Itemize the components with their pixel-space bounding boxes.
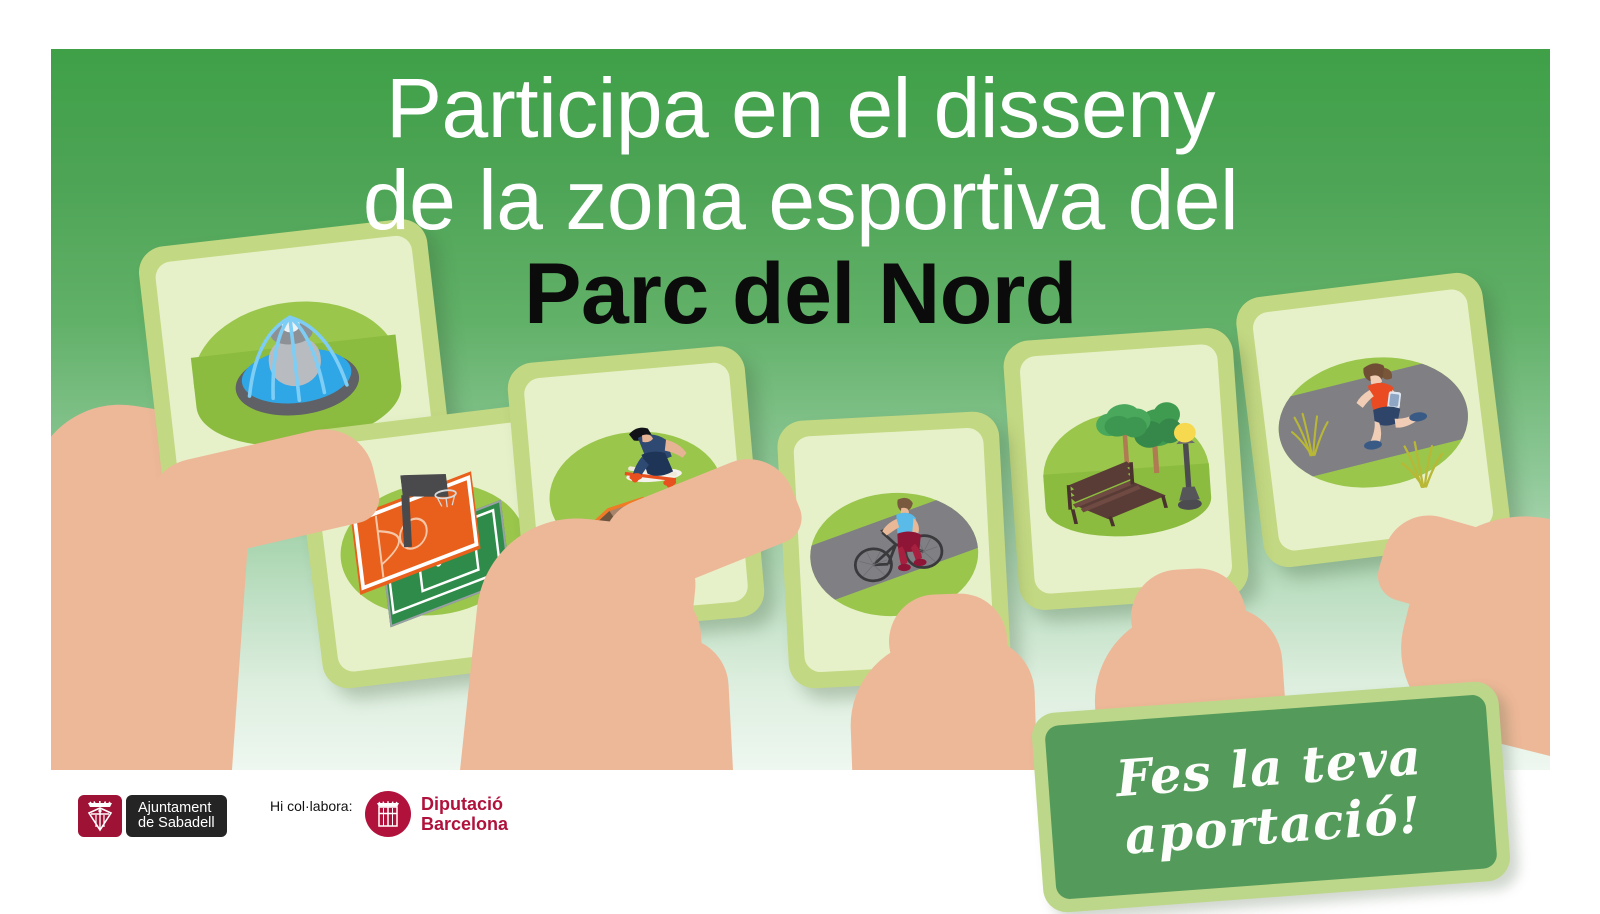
diputacio-logo[interactable]: Diputació Barcelona — [365, 791, 508, 837]
bench-trees-card-inner — [1019, 343, 1233, 594]
sabadell-line-2: de Sabadell — [138, 816, 215, 831]
collaborate-label: Hi col·labora: — [270, 798, 352, 814]
diputacio-coat-of-arms-icon — [365, 791, 411, 837]
sabadell-shield-icon — [86, 800, 114, 832]
hand-finger-5 — [1129, 566, 1249, 668]
cyclist-icon — [841, 476, 954, 604]
hand-finger-4 — [887, 592, 1008, 690]
sabadell-logo-text: Ajuntament de Sabadell — [126, 795, 227, 837]
diputacio-line-2: Barcelona — [421, 814, 508, 834]
banner-background — [51, 49, 1550, 770]
diputacio-logo-text: Diputació Barcelona — [421, 794, 508, 834]
hand-finger-3 — [568, 585, 704, 690]
poster-canvas: Participa en el disseny de la zona espor… — [0, 0, 1600, 900]
sabadell-logo[interactable]: Ajuntament de Sabadell — [78, 795, 227, 837]
footer-logos: Ajuntament de Sabadell Hi col·labora: Di… — [0, 780, 1600, 900]
sabadell-coat-of-arms-icon — [78, 795, 122, 837]
running-path-card-inner — [1251, 288, 1495, 553]
bench-trees-card[interactable] — [1002, 326, 1250, 611]
diputacio-shield-icon — [374, 799, 402, 829]
diputacio-line-1: Diputació — [421, 794, 508, 814]
street-lamp-icon — [1162, 406, 1214, 532]
sabadell-line-1: Ajuntament — [138, 801, 215, 816]
park-bench-icon — [1049, 432, 1178, 540]
runner-icon — [1316, 336, 1443, 478]
basketball-net-icon — [432, 486, 460, 512]
